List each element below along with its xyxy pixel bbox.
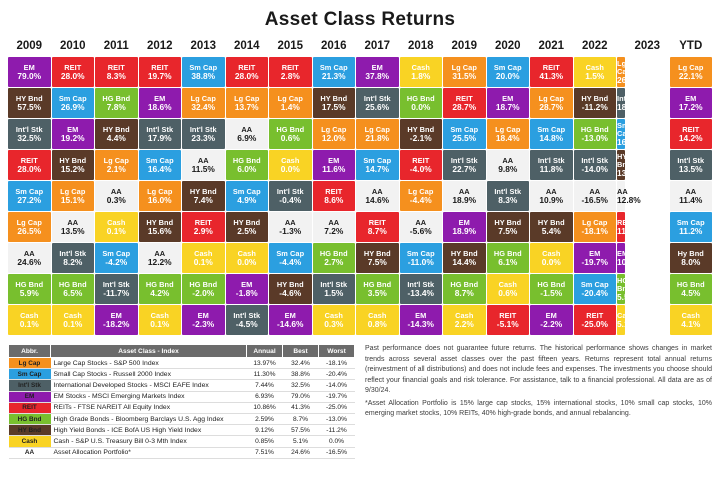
return-cell-2018-cash[interactable]: Cash1.8% (400, 57, 443, 87)
return-cell-2019-lgcap[interactable]: Lg Cap31.5% (443, 57, 486, 87)
return-cell-2014-hybnd[interactable]: HY Bnd2.5% (226, 212, 269, 242)
return-cell-2021-em[interactable]: EM-2.2% (530, 305, 573, 335)
return-cell-2020-cash[interactable]: Cash0.6% (487, 274, 530, 304)
cell-return-value: 31.5% (443, 72, 486, 81)
cell-return-value: 22.7% (443, 165, 486, 174)
legend-annual: 7.44% (247, 380, 283, 391)
cell-return-value: 18.6% (139, 103, 182, 112)
cell-return-value: 57.5% (8, 103, 51, 112)
cell-return-value: 8.6% (313, 196, 356, 205)
return-cell-2014-lgcap[interactable]: Lg Cap13.7% (226, 88, 269, 118)
return-cell-2009-aa[interactable]: AA24.6% (8, 243, 51, 273)
legend-abbr-badge: Sm Cap (9, 369, 51, 380)
return-cell-2013-em[interactable]: EM-2.3% (182, 305, 225, 335)
legend-worst: 0.0% (319, 436, 355, 447)
return-cell-2010-intl[interactable]: Int'l Stk8.2% (52, 243, 95, 273)
cell-return-value: 32.5% (8, 134, 51, 143)
return-cell-2010-aa[interactable]: AA13.5% (52, 212, 95, 242)
cell-return-value: 41.3% (530, 72, 573, 81)
return-cell-2009-intl[interactable]: Int'l Stk32.5% (8, 119, 51, 149)
legend-abbr-badge: HY Bnd (9, 425, 51, 436)
return-cell-ytd-reit[interactable]: REIT14.2% (670, 119, 713, 149)
cell-return-value: 28.0% (8, 165, 51, 174)
return-cell-2021-cash[interactable]: Cash0.0% (530, 243, 573, 273)
legend-row: CashCash - S&P U.S. Treasury Bill 0-3 Mt… (9, 436, 355, 447)
returns-rank-row: Int'l Stk32.5%EM19.2%HY Bnd4.4%Int'l Stk… (8, 119, 712, 149)
cell-asset-abbr: Sm Cap (617, 122, 625, 138)
return-cell-2017-aa[interactable]: AA14.6% (356, 181, 399, 211)
cell-return-value: 16.4% (139, 165, 182, 174)
legend-worst: -13.0% (319, 413, 355, 424)
asset-class-returns-grid: 2009201020112012201320142015201620172018… (7, 37, 713, 336)
return-cell-2013-reit[interactable]: REIT2.9% (182, 212, 225, 242)
return-cell-2018-em[interactable]: EM-14.3% (400, 305, 443, 335)
return-cell-2021-smcap[interactable]: Sm Cap14.8% (530, 119, 573, 149)
legend-row: EMEM Stocks - MSCI Emerging Markets Inde… (9, 391, 355, 402)
return-cell-2013-intl[interactable]: Int'l Stk23.3% (182, 119, 225, 149)
cell-return-value: 4.4% (95, 134, 138, 143)
cell-return-value: 2.1% (95, 165, 138, 174)
return-cell-2017-intl[interactable]: Int'l Stk25.6% (356, 88, 399, 118)
cell-return-value: -14.3% (400, 320, 443, 329)
returns-rank-row: EM79.0%REIT28.0%REIT8.3%REIT19.7%Sm Cap3… (8, 57, 712, 87)
return-cell-2017-lgcap[interactable]: Lg Cap21.8% (356, 119, 399, 149)
return-cell-ytd-cash[interactable]: Cash4.1% (670, 305, 713, 335)
cell-return-value: 1.5% (574, 72, 617, 81)
legend-abbr-badge: AA (9, 447, 51, 458)
return-cell-2011-intl[interactable]: Int'l Stk-11.7% (95, 274, 138, 304)
return-cell-2023-cash[interactable]: Cash5.1% (617, 305, 625, 335)
legend-annual: 7.51% (247, 447, 283, 458)
cell-return-value: -2.0% (182, 289, 225, 298)
cell-return-value: -4.5% (226, 320, 269, 329)
return-cell-2019-em[interactable]: EM18.9% (443, 212, 486, 242)
cell-return-value: -13.4% (400, 289, 443, 298)
return-cell-2021-reit[interactable]: REIT41.3% (530, 57, 573, 87)
return-cell-2015-lgcap[interactable]: Lg Cap1.4% (269, 88, 312, 118)
cell-asset-abbr: HG Bnd (617, 277, 625, 293)
return-cell-2019-intl[interactable]: Int'l Stk22.7% (443, 150, 486, 180)
cell-return-value: 17.2% (670, 103, 713, 112)
return-cell-2014-reit[interactable]: REIT28.0% (226, 57, 269, 87)
return-cell-2009-hgbnd[interactable]: HG Bnd5.9% (8, 274, 51, 304)
return-cell-2011-hgbnd[interactable]: HG Bnd7.8% (95, 88, 138, 118)
return-cell-2016-aa[interactable]: AA7.2% (313, 212, 356, 242)
legend-header-best: Best (283, 345, 319, 358)
return-cell-2022-hgbnd[interactable]: HG Bnd-13.0% (574, 119, 617, 149)
cell-return-value: 0.3% (313, 320, 356, 329)
cell-return-value: 0.1% (52, 320, 95, 329)
cell-return-value: -0.4% (269, 196, 312, 205)
return-cell-2011-hybnd[interactable]: HY Bnd4.4% (95, 119, 138, 149)
return-cell-2016-hybnd[interactable]: HY Bnd17.5% (313, 88, 356, 118)
cell-return-value: 37.8% (356, 72, 399, 81)
return-cell-2015-intl[interactable]: Int'l Stk-0.4% (269, 181, 312, 211)
cell-return-value: -18.2% (95, 320, 138, 329)
return-cell-2019-hybnd[interactable]: HY Bnd14.4% (443, 243, 486, 273)
return-cell-ytd-intl[interactable]: Int'l Stk13.5% (670, 150, 713, 180)
return-cell-2012-smcap[interactable]: Sm Cap16.4% (139, 150, 182, 180)
return-cell-2017-cash[interactable]: Cash0.8% (356, 305, 399, 335)
column-header-2009: 2009 (8, 38, 51, 56)
return-cell-2016-intl[interactable]: Int'l Stk1.5% (313, 274, 356, 304)
return-cell-2018-smcap[interactable]: Sm Cap-11.0% (400, 243, 443, 273)
cell-return-value: 7.5% (356, 258, 399, 267)
column-header-2010: 2010 (52, 38, 95, 56)
cell-return-value: 7.4% (182, 196, 225, 205)
return-cell-2011-reit[interactable]: REIT8.3% (95, 57, 138, 87)
return-cell-2016-em[interactable]: EM11.6% (313, 150, 356, 180)
return-cell-2009-hybnd[interactable]: HY Bnd57.5% (8, 88, 51, 118)
returns-rank-row: REIT28.0%HY Bnd15.2%Lg Cap2.1%Sm Cap16.4… (8, 150, 712, 180)
return-cell-2010-hgbnd[interactable]: HG Bnd6.5% (52, 274, 95, 304)
return-cell-2022-smcap[interactable]: Sm Cap-20.4% (574, 274, 617, 304)
return-cell-2016-reit[interactable]: REIT8.6% (313, 181, 356, 211)
return-cell-2009-lgcap[interactable]: Lg Cap26.5% (8, 212, 51, 242)
cell-return-value: 6.1% (487, 258, 530, 267)
column-header-2013: 2013 (182, 38, 225, 56)
return-cell-2010-smcap[interactable]: Sm Cap26.9% (52, 88, 95, 118)
cell-return-value: 13.7% (226, 103, 269, 112)
legend-name: High Grade Bonds - Bloomberg Barclays U.… (51, 413, 247, 424)
return-cell-2017-smcap[interactable]: Sm Cap14.7% (356, 150, 399, 180)
cell-return-value: -1.8% (226, 289, 269, 298)
return-cell-2009-reit[interactable]: REIT28.0% (8, 150, 51, 180)
cell-return-value: 21.8% (356, 134, 399, 143)
cell-return-value: 25.5% (443, 134, 486, 143)
cell-return-value: -25.0% (574, 320, 617, 329)
return-cell-2015-reit[interactable]: REIT2.8% (269, 57, 312, 87)
cell-return-value: -19.7% (574, 258, 617, 267)
asset-class-legend-table: Abbr.Asset Class - IndexAnnualBestWorst … (8, 344, 355, 459)
cell-return-value: 3.5% (356, 289, 399, 298)
return-cell-2021-lgcap[interactable]: Lg Cap28.7% (530, 88, 573, 118)
cell-return-value: 20.0% (487, 72, 530, 81)
cell-return-value: 0.1% (139, 320, 182, 329)
return-cell-2019-cash[interactable]: Cash2.2% (443, 305, 486, 335)
return-cell-2021-hybnd[interactable]: HY Bnd5.4% (530, 212, 573, 242)
cell-return-value: 16.0% (139, 196, 182, 205)
return-cell-2014-aa[interactable]: AA6.9% (226, 119, 269, 149)
return-cell-2009-smcap[interactable]: Sm Cap27.2% (8, 181, 51, 211)
cell-return-value: 28.7% (530, 103, 573, 112)
return-cell-2011-cash[interactable]: Cash0.1% (95, 212, 138, 242)
return-cell-2016-hgbnd[interactable]: HG Bnd2.7% (313, 243, 356, 273)
cell-return-value: 10.3% (617, 258, 625, 267)
return-cell-2023-lgcap[interactable]: Lg Cap26.3% (617, 57, 625, 87)
return-cell-2023-intl[interactable]: Int'l18.9% (617, 88, 625, 118)
legend-container: Abbr.Asset Class - IndexAnnualBestWorst … (8, 344, 355, 459)
legend-best: 24.6% (283, 447, 319, 458)
return-cell-2014-em[interactable]: EM-1.8% (226, 274, 269, 304)
legend-best: 79.0% (283, 391, 319, 402)
cell-return-value: 4.9% (226, 196, 269, 205)
legend-worst: -18.1% (319, 358, 355, 369)
return-cell-ytd-smcap[interactable]: Sm Cap11.2% (670, 212, 713, 242)
column-header-2021: 2021 (530, 38, 573, 56)
cell-return-value: 0.1% (8, 320, 51, 329)
cell-return-value: -4.0% (400, 165, 443, 174)
cell-return-value: 0.0% (269, 165, 312, 174)
cell-return-value: -20.4% (574, 289, 617, 298)
legend-name: High Yield Bonds - ICE BofA US High Yiel… (51, 425, 247, 436)
cell-return-value: -16.5% (574, 196, 617, 205)
return-cell-2022-lgcap[interactable]: Lg Cap-18.1% (574, 212, 617, 242)
return-cell-2012-reit[interactable]: REIT19.7% (139, 57, 182, 87)
return-cell-2011-aa[interactable]: AA0.3% (95, 181, 138, 211)
return-cell-2021-aa[interactable]: AA10.9% (530, 181, 573, 211)
return-cell-2012-em[interactable]: EM18.6% (139, 88, 182, 118)
cell-return-value: 8.3% (487, 196, 530, 205)
cell-return-value: 4.5% (670, 289, 713, 298)
cell-asset-abbr: Lg Cap (617, 60, 625, 76)
return-cell-2018-lgcap[interactable]: Lg Cap-4.4% (400, 181, 443, 211)
cell-return-value: -13.0% (574, 134, 617, 143)
disclosure-paragraph-2: *Asset Allocation Portfolio is 15% large… (365, 399, 712, 420)
return-cell-2012-hgbnd[interactable]: HG Bnd4.2% (139, 274, 182, 304)
return-cell-2013-aa[interactable]: AA11.5% (182, 150, 225, 180)
return-cell-2012-lgcap[interactable]: Lg Cap16.0% (139, 181, 182, 211)
return-cell-ytd-em[interactable]: EM17.2% (670, 88, 713, 118)
page-title: Asset Class Returns (0, 0, 720, 37)
legend-body: Lg CapLarge Cap Stocks - S&P 500 Index13… (9, 358, 355, 459)
cell-return-value: 28.0% (52, 72, 95, 81)
legend-row: AAAsset Allocation Portfolio*7.51%24.6%-… (9, 447, 355, 458)
legend-best: 38.8% (283, 369, 319, 380)
column-header-2022: 2022 (574, 38, 617, 56)
return-cell-2023-smcap[interactable]: Sm Cap16.9% (617, 119, 625, 149)
return-cell-ytd-hybnd[interactable]: Hy Bnd8.0% (670, 243, 713, 273)
return-cell-2012-cash[interactable]: Cash0.1% (139, 305, 182, 335)
legend-annual: 2.59% (247, 413, 283, 424)
return-cell-2015-aa[interactable]: AA-1.3% (269, 212, 312, 242)
cell-return-value: 11.2% (670, 227, 713, 236)
returns-rank-row: Sm Cap27.2%Lg Cap15.1%AA0.3%Lg Cap16.0%H… (8, 181, 712, 211)
cell-return-value: 11.5% (182, 165, 225, 174)
return-cell-2017-hybnd[interactable]: HY Bnd7.5% (356, 243, 399, 273)
return-cell-2016-cash[interactable]: Cash0.3% (313, 305, 356, 335)
return-cell-2021-intl[interactable]: Int'l Stk11.8% (530, 150, 573, 180)
legend-best: 41.3% (283, 402, 319, 413)
return-cell-2010-em[interactable]: EM19.2% (52, 119, 95, 149)
disclosure-paragraph-1: Past performance does not guarantee futu… (365, 344, 712, 397)
cell-return-value: 17.5% (313, 103, 356, 112)
cell-return-value: -2.1% (400, 134, 443, 143)
return-cell-2009-cash[interactable]: Cash0.1% (8, 305, 51, 335)
return-cell-2013-cash[interactable]: Cash0.1% (182, 243, 225, 273)
cell-return-value: 1.8% (400, 72, 443, 81)
return-cell-2011-em[interactable]: EM-18.2% (95, 305, 138, 335)
return-cell-2013-hybnd[interactable]: HY Bnd7.4% (182, 181, 225, 211)
cell-return-value: 8.7% (356, 227, 399, 236)
legend-header-worst: Worst (319, 345, 355, 358)
return-cell-2016-smcap[interactable]: Sm Cap21.3% (313, 57, 356, 87)
return-cell-2014-intl[interactable]: Int'l Stk-4.5% (226, 305, 269, 335)
cell-return-value: -4.6% (269, 289, 312, 298)
return-cell-2022-cash[interactable]: Cash1.5% (574, 57, 617, 87)
return-cell-2013-lgcap[interactable]: Lg Cap32.4% (182, 88, 225, 118)
return-cell-2015-hgbnd[interactable]: HG Bnd0.6% (269, 119, 312, 149)
year-header-row: 2009201020112012201320142015201620172018… (8, 38, 712, 56)
return-cell-2022-intl[interactable]: Int'l Stk-14.0% (574, 150, 617, 180)
return-cell-2015-em[interactable]: EM-14.6% (269, 305, 312, 335)
return-cell-2020-em[interactable]: EM18.7% (487, 88, 530, 118)
return-cell-2018-hybnd[interactable]: HY Bnd-2.1% (400, 119, 443, 149)
return-cell-2022-aa[interactable]: AA-16.5% (574, 181, 617, 211)
cell-return-value: 79.0% (8, 72, 51, 81)
cell-return-value: 21.3% (313, 72, 356, 81)
cell-return-value: 22.1% (670, 72, 713, 81)
return-cell-2018-reit[interactable]: REIT-4.0% (400, 150, 443, 180)
bottom-section: Abbr.Asset Class - IndexAnnualBestWorst … (0, 336, 720, 459)
cell-return-value: 15.1% (52, 196, 95, 205)
legend-header-abbr: Abbr. (9, 345, 51, 358)
cell-return-value: 2.9% (182, 227, 225, 236)
return-cell-ytd-hgbnd[interactable]: HG Bnd4.5% (670, 274, 713, 304)
return-cell-2010-reit[interactable]: REIT28.0% (52, 57, 95, 87)
return-cell-2019-smcap[interactable]: Sm Cap25.5% (443, 119, 486, 149)
legend-row: Int'l StkInternational Developed Stocks … (9, 380, 355, 391)
column-header-2017: 2017 (356, 38, 399, 56)
cell-return-value: -1.3% (269, 227, 312, 236)
return-cell-2021-hgbnd[interactable]: HG Bnd-1.5% (530, 274, 573, 304)
cell-return-value: 18.9% (443, 227, 486, 236)
return-cell-2023-hgbnd[interactable]: HG Bnd5.5% (617, 274, 625, 304)
cell-return-value: -11.7% (95, 289, 138, 298)
return-cell-ytd-aa[interactable]: AA11.4% (670, 181, 713, 211)
cell-return-value: 0.3% (95, 196, 138, 205)
return-cell-2023-reit[interactable]: REIT11.4% (617, 212, 625, 242)
legend-annual: 9.12% (247, 425, 283, 436)
return-cell-2018-aa[interactable]: AA-5.6% (400, 212, 443, 242)
cell-return-value: 0.1% (95, 227, 138, 236)
return-cell-2010-hybnd[interactable]: HY Bnd15.2% (52, 150, 95, 180)
return-cell-2014-hgbnd[interactable]: HG Bnd6.0% (226, 150, 269, 180)
return-cell-ytd-lgcap[interactable]: Lg Cap22.1% (670, 57, 713, 87)
return-cell-2017-em[interactable]: EM37.8% (356, 57, 399, 87)
returns-rank-row: AA24.6%Int'l Stk8.2%Sm Cap-4.2%AA12.2%Ca… (8, 243, 712, 273)
cell-return-value: 7.8% (95, 103, 138, 112)
return-cell-2019-aa[interactable]: AA18.9% (443, 181, 486, 211)
cell-return-value: 17.9% (139, 134, 182, 143)
return-cell-2017-hgbnd[interactable]: HG Bnd3.5% (356, 274, 399, 304)
return-cell-2023-em[interactable]: EM10.3% (617, 243, 625, 273)
return-cell-2012-aa[interactable]: AA12.2% (139, 243, 182, 273)
return-cell-2022-reit[interactable]: REIT-25.0% (574, 305, 617, 335)
cell-return-value: 32.4% (182, 103, 225, 112)
cell-return-value: 28.7% (443, 103, 486, 112)
cell-return-value: 14.8% (530, 134, 573, 143)
return-cell-2015-smcap[interactable]: Sm Cap-4.4% (269, 243, 312, 273)
cell-return-value: 6.9% (226, 134, 269, 143)
return-cell-2023-hybnd[interactable]: HY Bnd13.5% (617, 150, 625, 180)
return-cell-2011-lgcap[interactable]: Lg Cap2.1% (95, 150, 138, 180)
return-cell-2017-reit[interactable]: REIT8.7% (356, 212, 399, 242)
cell-return-value: -11.2% (574, 103, 617, 112)
return-cell-2020-smcap[interactable]: Sm Cap20.0% (487, 57, 530, 87)
cell-return-value: 19.7% (139, 72, 182, 81)
legend-abbr-badge: HG Bnd (9, 413, 51, 424)
cell-return-value: -11.0% (400, 258, 443, 267)
cell-return-value: 2.2% (443, 320, 486, 329)
return-cell-2011-smcap[interactable]: Sm Cap-4.2% (95, 243, 138, 273)
return-cell-2009-em[interactable]: EM79.0% (8, 57, 51, 87)
cell-return-value: 18.9% (443, 196, 486, 205)
return-cell-2018-intl[interactable]: Int'l Stk-13.4% (400, 274, 443, 304)
return-cell-2014-smcap[interactable]: Sm Cap4.9% (226, 181, 269, 211)
cell-return-value: 15.2% (52, 165, 95, 174)
legend-worst: -19.7% (319, 391, 355, 402)
cell-return-value: 18.7% (487, 103, 530, 112)
return-cell-2020-hybnd[interactable]: HY Bnd7.5% (487, 212, 530, 242)
return-cell-2023-aa[interactable]: AA12.8% (617, 181, 625, 211)
legend-abbr-badge: REIT (9, 402, 51, 413)
cell-return-value: 26.3% (617, 76, 625, 85)
return-cell-2010-lgcap[interactable]: Lg Cap15.1% (52, 181, 95, 211)
return-cell-2022-em[interactable]: EM-19.7% (574, 243, 617, 273)
return-cell-2018-hgbnd[interactable]: HG Bnd0.0% (400, 88, 443, 118)
return-cell-2010-cash[interactable]: Cash0.1% (52, 305, 95, 335)
column-header-2020: 2020 (487, 38, 530, 56)
return-cell-2015-hybnd[interactable]: HY Bnd-4.6% (269, 274, 312, 304)
return-cell-2020-intl[interactable]: Int'l Stk8.3% (487, 181, 530, 211)
cell-return-value: 14.7% (356, 165, 399, 174)
legend-best: 5.1% (283, 436, 319, 447)
cell-return-value: -2.3% (182, 320, 225, 329)
cell-return-value: 26.9% (52, 103, 95, 112)
legend-header-annual: Annual (247, 345, 283, 358)
cell-return-value: 23.3% (182, 134, 225, 143)
cell-return-value: -14.6% (269, 320, 312, 329)
return-cell-2020-reit[interactable]: REIT-5.1% (487, 305, 530, 335)
disclosure-notes: Past performance does not guarantee futu… (365, 344, 712, 459)
cell-return-value: 26.5% (8, 227, 51, 236)
return-cell-2015-cash[interactable]: Cash0.0% (269, 150, 312, 180)
cell-return-value: 2.5% (226, 227, 269, 236)
cell-return-value: -2.2% (530, 320, 573, 329)
return-cell-2020-hgbnd[interactable]: HG Bnd6.1% (487, 243, 530, 273)
cell-return-value: -4.4% (400, 196, 443, 205)
cell-return-value: 11.4% (670, 196, 713, 205)
cell-return-value: 38.8% (182, 72, 225, 81)
cell-return-value: 13.5% (617, 169, 625, 178)
column-header-2014: 2014 (226, 38, 269, 56)
legend-abbr-badge: Int'l Stk (9, 380, 51, 391)
cell-return-value: 12.8% (617, 196, 625, 205)
return-cell-2012-hybnd[interactable]: HY Bnd15.6% (139, 212, 182, 242)
column-header-2018: 2018 (400, 38, 443, 56)
return-cell-2022-hybnd[interactable]: HY Bnd-11.2% (574, 88, 617, 118)
return-cell-2013-smcap[interactable]: Sm Cap38.8% (182, 57, 225, 87)
return-cell-2016-lgcap[interactable]: Lg Cap12.0% (313, 119, 356, 149)
cell-return-value: 14.2% (670, 134, 713, 143)
cell-return-value: 0.6% (269, 134, 312, 143)
return-cell-2019-reit[interactable]: REIT28.7% (443, 88, 486, 118)
return-cell-2020-lgcap[interactable]: Lg Cap18.4% (487, 119, 530, 149)
return-cell-2012-intl[interactable]: Int'l Stk17.9% (139, 119, 182, 149)
legend-annual: 0.85% (247, 436, 283, 447)
cell-return-value: 0.0% (400, 103, 443, 112)
return-cell-2020-aa[interactable]: AA9.8% (487, 150, 530, 180)
legend-abbr-badge: EM (9, 391, 51, 402)
return-cell-2019-hgbnd[interactable]: HG Bnd8.7% (443, 274, 486, 304)
legend-name: REITs - FTSE NAREIT All Equity Index (51, 402, 247, 413)
column-header-2023: 2023 (626, 38, 669, 56)
cell-return-value: 10.9% (530, 196, 573, 205)
return-cell-2014-cash[interactable]: Cash0.0% (226, 243, 269, 273)
cell-return-value: 2.8% (269, 72, 312, 81)
return-cell-2013-hgbnd[interactable]: HG Bnd-2.0% (182, 274, 225, 304)
